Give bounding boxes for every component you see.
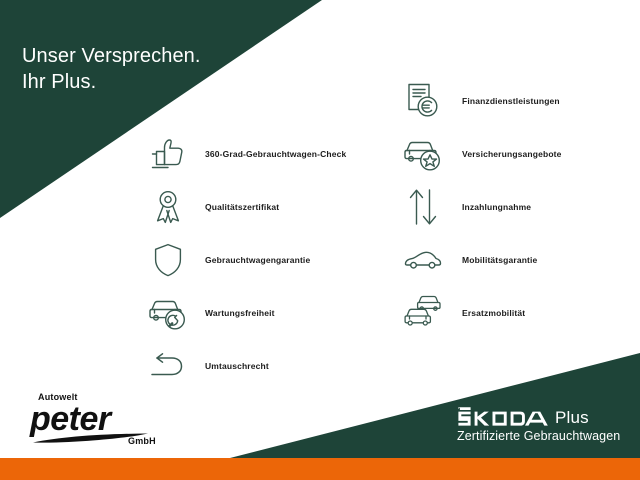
arrows-up-down-icon bbox=[400, 184, 446, 230]
feature-item-360-check: 360-Grad-Gebrauchtwagen-Check bbox=[145, 128, 385, 180]
feature-item-trade-in: Inzahlungnahme bbox=[400, 181, 640, 233]
skoda-subtitle: Zertifizierte Gebrauchtwagen bbox=[457, 429, 620, 443]
feature-label: Qualitätszertifikat bbox=[205, 202, 279, 212]
feature-label: Inzahlungnahme bbox=[462, 202, 531, 212]
feature-item-quality-certificate: Qualitätszertifikat bbox=[145, 181, 385, 233]
shield-icon bbox=[145, 237, 191, 283]
feature-item-exchange-right: Umtauschrecht bbox=[145, 340, 385, 392]
feature-list-right: Finanzdienstleistungen Versicherungsange… bbox=[400, 75, 640, 340]
car-wrench-icon bbox=[145, 290, 191, 336]
car-side-icon bbox=[400, 237, 446, 283]
skoda-plus-label: Plus bbox=[555, 409, 589, 426]
document-euro-icon bbox=[400, 78, 446, 124]
feature-label: Versicherungsangebote bbox=[462, 149, 562, 159]
dealer-logo-sub-text: GmbH bbox=[128, 436, 156, 446]
feature-item-replacement-mobility: Ersatzmobilität bbox=[400, 287, 640, 339]
feature-label: 360-Grad-Gebrauchtwagen-Check bbox=[205, 149, 346, 159]
skoda-plus-brand: Plus Zertifizierte Gebrauchtwagen bbox=[457, 407, 620, 443]
feature-label: Finanzdienstleistungen bbox=[462, 96, 560, 106]
skoda-wordmark bbox=[457, 407, 548, 426]
promo-banner: Unser Versprechen. Ihr Plus. 360-Grad-Ge… bbox=[0, 0, 640, 480]
feature-label: Mobilitätsgarantie bbox=[462, 255, 537, 265]
car-star-icon bbox=[400, 131, 446, 177]
feature-item-insurance-offers: Versicherungsangebote bbox=[400, 128, 640, 180]
feature-label: Gebrauchtwagengarantie bbox=[205, 255, 310, 265]
return-arrow-icon bbox=[145, 343, 191, 389]
feature-label: Wartungsfreiheit bbox=[205, 308, 275, 318]
dealer-logo: Autowelt peter GmbH bbox=[30, 392, 210, 454]
feature-item-warranty: Gebrauchtwagengarantie bbox=[145, 234, 385, 286]
two-cars-icon bbox=[400, 290, 446, 336]
feature-item-maintenance-free: Wartungsfreiheit bbox=[145, 287, 385, 339]
feature-item-mobility-guarantee: Mobilitätsgarantie bbox=[400, 234, 640, 286]
headline-line-2: Ihr Plus. bbox=[22, 69, 201, 95]
feature-list-left: 360-Grad-Gebrauchtwagen-Check Qualitätsz… bbox=[145, 128, 385, 393]
orange-footer-bar bbox=[0, 458, 640, 480]
feature-label: Umtauschrecht bbox=[205, 361, 269, 371]
thumbs-up-icon bbox=[145, 131, 191, 177]
feature-item-financial-services: Finanzdienstleistungen bbox=[400, 75, 640, 127]
headline-line-1: Unser Versprechen. bbox=[22, 45, 201, 67]
page-title: Unser Versprechen. Ihr Plus. bbox=[22, 17, 201, 121]
feature-label: Ersatzmobilität bbox=[462, 308, 525, 318]
award-rosette-icon bbox=[145, 184, 191, 230]
